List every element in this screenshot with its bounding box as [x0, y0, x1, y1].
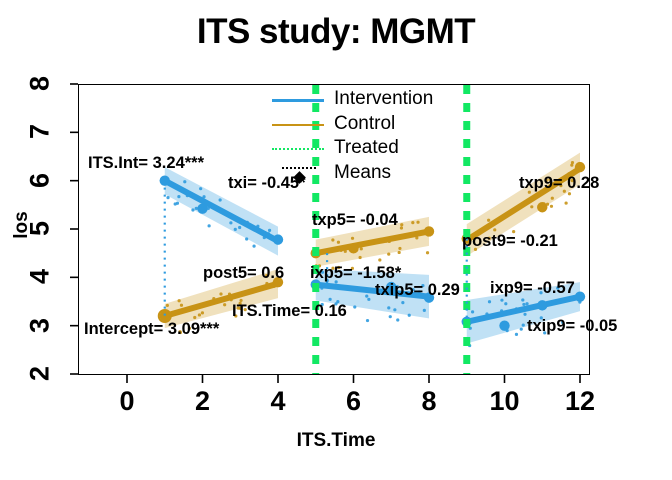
annotation-its-time: ITS.Time= 0.16	[232, 303, 347, 320]
legend-item-control: Control	[272, 113, 447, 138]
annotation-txp5: txp5= -0.04	[312, 212, 398, 229]
legend: Intervention Control Treated Means	[272, 88, 447, 186]
annotation-txip9: txip9= -0.05	[527, 318, 617, 335]
y-tick-label: 5	[27, 214, 54, 244]
x-tick-label: 0	[102, 388, 152, 415]
annotation-intercept: Intercept= 3.09***	[84, 321, 219, 338]
legend-label: Control	[334, 113, 395, 135]
x-tick-label: 12	[555, 388, 605, 415]
legend-label: Means	[334, 162, 391, 184]
chart-canvas: ITS study: MGMT los ITS.Time 2345678 024…	[0, 0, 672, 480]
legend-label: Treated	[334, 137, 399, 159]
annotation-ixp5: ixp5= -1.58*	[310, 265, 401, 282]
annotation-post5: post5= 0.6	[203, 265, 284, 282]
annotation-its-int: ITS.Int= 3.24***	[88, 155, 204, 172]
legend-label: Intervention	[334, 88, 433, 110]
line-swatch-icon	[272, 99, 324, 102]
y-tick-label: 4	[27, 262, 54, 292]
x-tick-label: 4	[253, 388, 303, 415]
legend-item-treated: Treated	[272, 137, 447, 162]
y-tick-label: 2	[27, 359, 54, 389]
annotation-txp9: txp9= 0.28	[519, 175, 599, 192]
dotted-line-swatch-icon	[272, 148, 324, 150]
annotation-txi: txi= -0.45*	[228, 175, 306, 192]
annotation-txip5: txip5= 0.29	[375, 282, 460, 299]
annotation-ixp9: ixp9= -0.57	[490, 280, 575, 297]
x-tick-label: 8	[404, 388, 454, 415]
y-tick-label: 6	[27, 165, 54, 195]
x-tick-label: 10	[480, 388, 530, 415]
x-tick-label: 2	[178, 388, 228, 415]
legend-item-intervention: Intervention	[272, 88, 447, 113]
annotation-post9: post9= -0.21	[462, 233, 558, 250]
x-tick-label: 6	[329, 388, 379, 415]
line-swatch-icon	[272, 124, 324, 127]
y-tick-label: 8	[27, 69, 54, 99]
y-tick-label: 3	[27, 310, 54, 340]
y-tick-label: 7	[27, 117, 54, 147]
